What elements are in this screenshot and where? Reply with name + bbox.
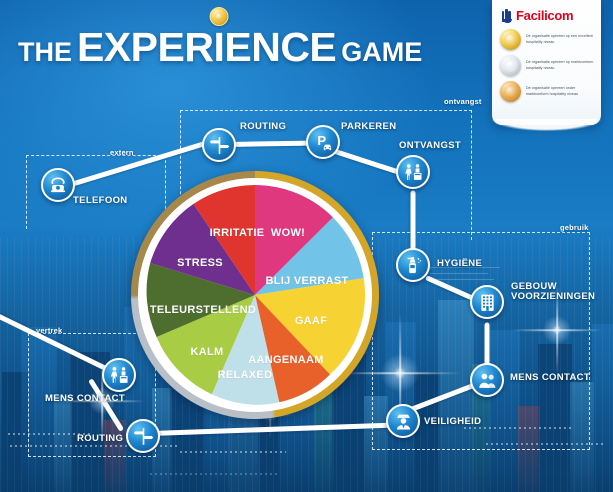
node-ontvangst[interactable] (396, 155, 430, 189)
legend-item-bronze: De organisatie opereert onder marktconfo… (500, 81, 595, 102)
legend-text-gold: De organisatie opereert op een excellent… (526, 34, 595, 44)
experience-wheel: WOW! BLIJ VERRAST GAAF AANGENAAM RELAXED… (131, 171, 379, 419)
node-label-ontvangst: ONTVANGST (399, 141, 461, 151)
legend-item-gold: De organisatie opereert op een excellent… (500, 29, 595, 50)
title-word-experience-b: ENCE (224, 24, 336, 70)
node-label-veiligheid: VEILIGHEID (424, 417, 481, 427)
node-veiligheid[interactable] (386, 404, 420, 438)
reception-desk-icon (403, 162, 424, 183)
silver-medal-icon (500, 55, 521, 76)
legend-text-silver: De organisatie opereert op marktconform … (526, 60, 595, 70)
node-telefoon[interactable] (41, 168, 75, 202)
title-word-the: THE (18, 37, 72, 67)
spray-bottle-icon (403, 255, 424, 276)
slice-label-relaxed: RELAXED (218, 369, 273, 381)
signpost-icon (133, 426, 154, 447)
node-hygiene[interactable] (396, 248, 430, 282)
node-label-routing-top: ROUTING (240, 122, 286, 132)
node-label-mens-contact-left: MENS CONTACT (45, 394, 125, 404)
slice-label-kalm: KALM (191, 346, 224, 358)
legend-text-bronze: De organisatie opereert onder marktconfo… (526, 86, 595, 96)
brand-row: Facilicom (502, 8, 595, 23)
node-label-telefoon: TELEFOON (73, 196, 128, 206)
bronze-medal-icon (500, 81, 521, 102)
facilicom-emblem-icon (502, 9, 513, 22)
brand-name: Facilicom (516, 8, 573, 23)
node-gebouw-voorzieningen[interactable] (470, 285, 504, 319)
telephone-icon (48, 175, 68, 195)
phase-label-gebruik: gebruik (556, 223, 593, 232)
title-word-game: GAME (341, 37, 422, 67)
slice-label-gaaf: GAAF (295, 315, 327, 327)
slice-label-irritatie: IRRITATIE (210, 227, 265, 239)
slice-label-blij-verrast: BLIJ VERRAST (265, 275, 348, 287)
slice-label-teleurstellend: TELEURSTELLEND (150, 304, 256, 316)
node-mens-contact-left[interactable] (102, 358, 136, 392)
slice-label-stress: STRESS (177, 257, 223, 269)
node-routing-bottom[interactable] (126, 419, 160, 453)
node-parkeren[interactable]: P (306, 125, 340, 159)
pie-svg: WOW! BLIJ VERRAST GAAF AANGENAAM RELAXED… (145, 185, 365, 405)
gold-medal-icon (209, 7, 228, 26)
parking-car-icon: P (313, 132, 334, 153)
phase-label-ontvangst: ontvangst (440, 97, 486, 106)
person-desk-icon (109, 365, 130, 386)
facilicom-logo-card: Facilicom De organisatie opereert op een… (492, 0, 601, 125)
office-building-icon (477, 292, 498, 313)
gold-medal-icon (500, 29, 521, 50)
security-guard-icon (393, 411, 414, 432)
phase-label-mask-extern (104, 152, 144, 158)
signpost-icon (209, 135, 230, 156)
node-mens-contact-right[interactable] (470, 363, 504, 397)
wheel-pie-chart: WOW! BLIJ VERRAST GAAF AANGENAAM RELAXED… (145, 185, 365, 405)
title-word-experience-a: EXPER (77, 24, 214, 70)
node-label-routing-bottom: ROUTING (77, 434, 123, 444)
slice-label-wow: WOW! (271, 227, 305, 239)
node-label-mens-contact-right: MENS CONTACT (510, 373, 590, 383)
node-routing-top[interactable] (202, 128, 236, 162)
slice-label-aangenaam: AANGENAAM (248, 354, 323, 366)
node-label-gebouw-voorzieningen: GEBOUWVOORZIENINGEN (511, 282, 595, 303)
node-label-hygiene: HYGIËNE (437, 259, 482, 269)
node-label-parkeren: PARKEREN (341, 122, 396, 132)
poster-canvas: THE EXPERIENCE GAME Facilicom De organis… (0, 0, 613, 492)
title-word-experience-i: I (213, 24, 224, 71)
two-people-icon (477, 370, 498, 391)
page-title: THE EXPERIENCE GAME (18, 24, 422, 71)
legend-item-silver: De organisatie opereert op marktconform … (500, 55, 595, 76)
